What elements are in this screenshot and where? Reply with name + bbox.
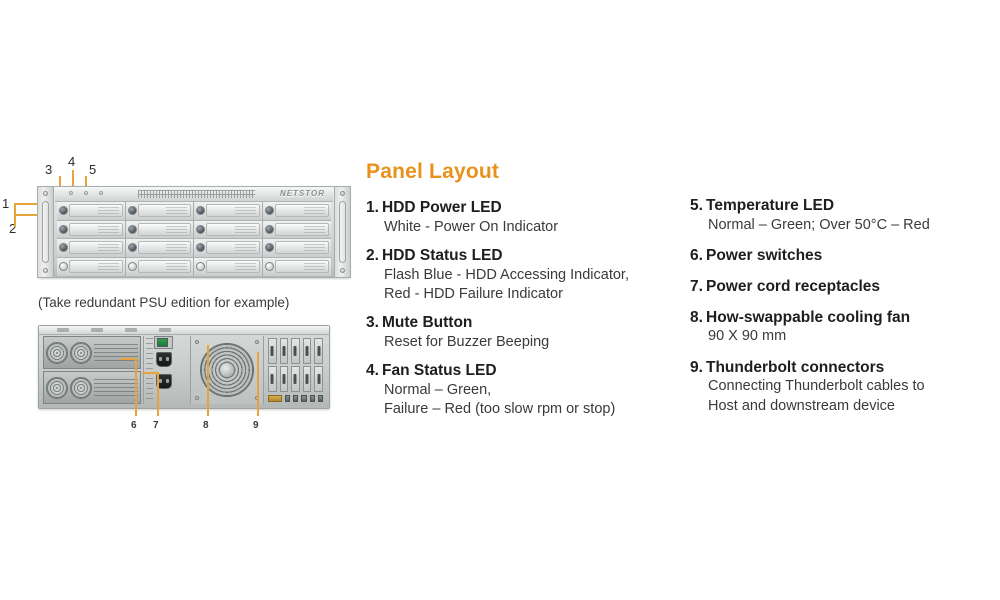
spec-title: Thunderbolt connectors <box>706 359 884 376</box>
mute-button-led[interactable] <box>69 191 73 195</box>
tray-face <box>69 241 123 254</box>
tray-latch-icon[interactable] <box>196 243 205 252</box>
spec-item-4: 4.Fan Status LED Normal – Green, Failure… <box>366 361 676 419</box>
tray-face <box>69 223 123 236</box>
spec-title: Temperature LED <box>706 197 834 214</box>
front-status-led-group <box>69 191 103 197</box>
spec-title: Fan Status LED <box>382 362 497 379</box>
expansion-slot-block <box>264 336 325 404</box>
spec-number: 4. <box>366 361 382 381</box>
rack-screw-icon <box>43 191 48 196</box>
spec-title: Power switches <box>706 247 822 264</box>
rear-figure-caption: (Take redundant PSU edition for example) <box>38 295 289 310</box>
spec-description-line: Connecting Thunderbolt cables to <box>690 377 990 396</box>
leader-line-9 <box>257 352 259 416</box>
rear-connector[interactable] <box>285 395 290 402</box>
spec-heading: 3.Mute Button <box>366 313 676 333</box>
tray-face <box>138 260 192 273</box>
drive-tray[interactable] <box>263 258 332 277</box>
tray-latch-icon[interactable] <box>128 225 137 234</box>
tray-face <box>275 204 330 217</box>
callout-number-4: 4 <box>68 155 75 168</box>
expansion-slot[interactable] <box>268 338 277 364</box>
drive-tray[interactable] <box>57 258 125 277</box>
spec-heading: 2.HDD Status LED <box>366 246 676 266</box>
callout-number-3: 3 <box>45 163 52 176</box>
spec-heading: 1.HDD Power LED <box>366 198 676 218</box>
spec-heading: 5.Temperature LED <box>690 196 990 216</box>
rear-connector[interactable] <box>318 395 323 402</box>
rear-top-rail <box>39 326 329 335</box>
spec-number: 2. <box>366 246 382 266</box>
rack-screw-icon <box>340 268 345 273</box>
spec-title: How-swappable cooling fan <box>706 309 910 326</box>
tray-latch-icon[interactable] <box>59 262 68 271</box>
spec-item-1: 1.HDD Power LED White - Power On Indicat… <box>366 198 676 237</box>
expansion-slot[interactable] <box>314 338 323 364</box>
connector-row <box>268 394 323 404</box>
rear-panel-inner <box>43 336 325 404</box>
psu-fan-icon <box>70 377 92 399</box>
leader-line-8 <box>207 345 209 416</box>
spec-description-line: Host and downstream device <box>690 397 990 416</box>
tray-latch-icon[interactable] <box>128 243 137 252</box>
drive-tray[interactable] <box>263 221 332 240</box>
spec-number: 7. <box>690 277 706 297</box>
redundant-psu-block <box>43 336 143 404</box>
thunderbolt-connector[interactable] <box>268 395 282 402</box>
rack-screw-icon <box>340 191 345 196</box>
fan-status-led <box>84 191 88 195</box>
rail-notch <box>159 328 171 332</box>
tray-face <box>138 223 192 236</box>
expansion-slot[interactable] <box>280 366 289 392</box>
spec-number: 5. <box>690 196 706 216</box>
spec-title: Mute Button <box>382 314 472 331</box>
front-vent-grid <box>138 190 255 198</box>
drive-tray[interactable] <box>126 258 194 277</box>
spec-description-line: 90 X 90 mm <box>690 327 990 346</box>
spec-item-5: 5.Temperature LED Normal – Green; Over 5… <box>690 196 990 235</box>
spec-item-8: 8.How-swappable cooling fan 90 X 90 mm <box>690 308 990 347</box>
rail-notch <box>91 328 103 332</box>
leader-line-6 <box>135 358 137 416</box>
fan-screw-icon <box>195 340 199 344</box>
tray-face <box>69 260 123 273</box>
psu-fan-icon <box>70 342 92 364</box>
front-bezel-strip: NETSTOR <box>55 187 333 202</box>
rear-connector[interactable] <box>301 395 306 402</box>
tray-face <box>206 260 260 273</box>
tray-latch-icon[interactable] <box>265 243 274 252</box>
psu-fan-icon <box>46 377 68 399</box>
tray-face <box>138 241 192 254</box>
front-chassis: NETSTOR <box>38 186 350 278</box>
expansion-slot[interactable] <box>268 366 277 392</box>
tray-face <box>275 241 330 254</box>
callout-number-5: 5 <box>89 163 96 176</box>
tray-latch-icon[interactable] <box>265 206 274 215</box>
rack-handle-icon[interactable] <box>42 201 49 263</box>
drive-tray[interactable] <box>126 221 194 240</box>
expansion-slot[interactable] <box>314 366 323 392</box>
temperature-led <box>99 191 103 195</box>
rack-ear-right <box>334 186 351 278</box>
tray-latch-icon[interactable] <box>59 206 68 215</box>
tray-latch-icon[interactable] <box>196 225 205 234</box>
netstor-logo: NETSTOR <box>280 189 325 198</box>
expansion-slot[interactable] <box>291 366 300 392</box>
spec-item-9: 9.Thunderbolt connectors Connecting Thun… <box>690 358 990 416</box>
drive-tray[interactable] <box>263 239 332 258</box>
drive-tray[interactable] <box>194 239 262 258</box>
fan-screw-icon <box>255 340 259 344</box>
power-cord-receptacle[interactable] <box>156 352 172 367</box>
leader-line-7 <box>157 372 159 416</box>
psu-module[interactable] <box>43 336 141 369</box>
power-switch[interactable] <box>157 338 168 347</box>
tray-latch-icon[interactable] <box>265 225 274 234</box>
spec-description-line: Red - HDD Failure Indicator <box>366 285 676 304</box>
fan-screw-icon <box>195 396 199 400</box>
spec-number: 1. <box>366 198 382 218</box>
tray-face <box>69 204 123 217</box>
spec-item-7: 7.Power cord receptacles <box>690 277 990 297</box>
tray-latch-icon[interactable] <box>196 262 205 271</box>
spec-title: HDD Status LED <box>382 247 503 264</box>
drive-tray[interactable] <box>194 258 262 277</box>
spec-number: 6. <box>690 246 706 266</box>
expansion-slot[interactable] <box>303 338 312 364</box>
switch-block-vent <box>146 338 153 402</box>
rear-connector[interactable] <box>310 395 315 402</box>
drive-tray[interactable] <box>126 202 194 221</box>
tray-latch-icon[interactable] <box>59 225 68 234</box>
expansion-slot[interactable] <box>280 338 289 364</box>
drive-tray[interactable] <box>263 202 332 221</box>
rail-notch <box>57 328 69 332</box>
drive-tray[interactable] <box>57 202 125 221</box>
drive-tray[interactable] <box>57 221 125 240</box>
callout-number-9: 9 <box>253 421 259 431</box>
tray-latch-icon[interactable] <box>196 206 205 215</box>
drive-tray[interactable] <box>194 221 262 240</box>
spec-description-line: White - Power On Indicator <box>366 218 676 237</box>
callout-number-8: 8 <box>203 421 209 431</box>
expansion-slot[interactable] <box>303 366 312 392</box>
spec-item-2: 2.HDD Status LED Flash Blue - HDD Access… <box>366 246 676 304</box>
drive-bay-column <box>126 202 195 276</box>
spec-number: 3. <box>366 313 382 333</box>
drive-bay-column <box>194 202 263 276</box>
rack-handle-icon[interactable] <box>339 201 346 263</box>
cooling-fan-block <box>190 336 264 404</box>
tray-face <box>206 241 260 254</box>
rail-notch <box>125 328 137 332</box>
spec-description-line: Failure – Red (too slow rpm or stop) <box>366 400 676 419</box>
spec-number: 8. <box>690 308 706 328</box>
callout-number-1: 1 <box>2 197 9 210</box>
psu-vent <box>94 379 138 397</box>
spec-description-line: Reset for Buzzer Beeping <box>366 333 676 352</box>
leader-tick-7 <box>142 372 158 374</box>
spec-description-line: Flash Blue - HDD Accessing Indicator, <box>366 266 676 285</box>
power-switch-block <box>143 336 190 404</box>
psu-fan-icon <box>46 342 68 364</box>
tray-face <box>206 204 260 217</box>
spec-item-3: 3.Mute Button Reset for Buzzer Beeping <box>366 313 676 352</box>
drive-bay-column <box>57 202 126 276</box>
spec-item-6: 6.Power switches <box>690 246 990 266</box>
spec-heading: 9.Thunderbolt connectors <box>690 358 990 378</box>
drive-tray[interactable] <box>194 202 262 221</box>
tray-face <box>275 260 330 273</box>
spec-description-line: Normal – Green, <box>366 381 676 400</box>
drive-tray[interactable] <box>126 239 194 258</box>
page-title: Panel Layout <box>366 160 499 184</box>
drive-bay-column <box>263 202 332 276</box>
callout-number-7: 7 <box>153 421 159 431</box>
psu-module[interactable] <box>43 371 141 404</box>
tray-face <box>275 223 330 236</box>
rack-ear-left <box>37 186 54 278</box>
tray-face <box>206 223 260 236</box>
spec-heading: 4.Fan Status LED <box>366 361 676 381</box>
tray-latch-icon[interactable] <box>128 206 137 215</box>
leader-tick-6 <box>120 358 136 360</box>
tray-latch-icon[interactable] <box>128 262 137 271</box>
tray-latch-icon[interactable] <box>265 262 274 271</box>
spec-list-right: 5.Temperature LED Normal – Green; Over 5… <box>690 196 990 427</box>
drive-bay-matrix <box>57 202 331 276</box>
expansion-slot[interactable] <box>291 338 300 364</box>
spec-heading: 7.Power cord receptacles <box>690 277 990 297</box>
rear-chassis <box>38 325 330 409</box>
spec-heading: 8.How-swappable cooling fan <box>690 308 990 328</box>
rack-screw-icon <box>43 268 48 273</box>
spec-heading: 6.Power switches <box>690 246 990 266</box>
spec-title: HDD Power LED <box>382 199 502 216</box>
expansion-slot-row <box>268 366 323 394</box>
leader-line-2-riser <box>14 203 16 227</box>
rear-connector[interactable] <box>293 395 298 402</box>
drive-tray[interactable] <box>57 239 125 258</box>
spec-title: Power cord receptacles <box>706 278 880 295</box>
callout-number-6: 6 <box>131 421 137 431</box>
spec-list-left: 1.HDD Power LED White - Power On Indicat… <box>366 198 676 428</box>
spec-description-line: Normal – Green; Over 50°C – Red <box>690 216 990 235</box>
tray-face <box>138 204 192 217</box>
tray-latch-icon[interactable] <box>59 243 68 252</box>
expansion-slot-row <box>268 338 323 366</box>
spec-number: 9. <box>690 358 706 378</box>
